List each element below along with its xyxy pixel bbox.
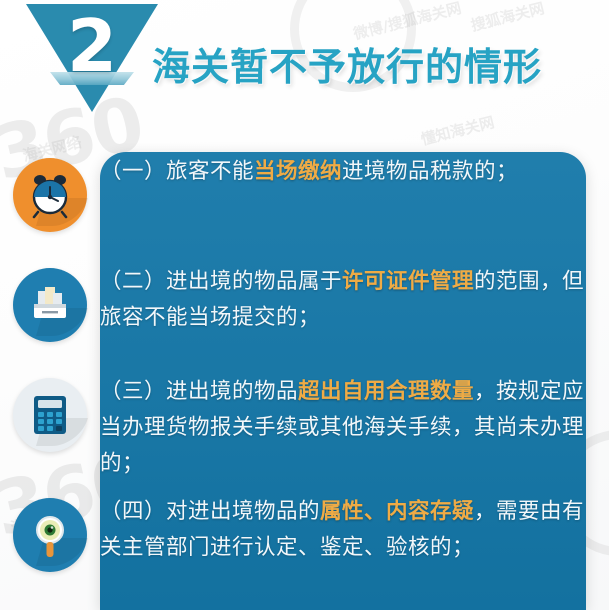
infographic-poster: 360 360 360 微博/搜狐海关网 搜狐海关网 海关网络 懂知海关网 海关… <box>0 0 609 610</box>
item-icon-cell <box>0 262 100 342</box>
item-text-cell: （四）对进出境物品的属性、内容存疑，需要由有关主管部门进行认定、鉴定、验核的； <box>100 492 609 566</box>
alarm-clock-icon <box>13 158 87 232</box>
list-item: （一）旅客不能当场缴纳进境物品税款的； <box>0 152 609 232</box>
plain-phrase: （二）进出境的物品属于 <box>100 269 342 294</box>
eye-magnifier-icon <box>13 498 87 572</box>
plain-phrase: （四）对进出境物品的 <box>100 499 320 524</box>
item-icon-cell <box>0 492 100 572</box>
item-text: （一）旅客不能当场缴纳进境物品税款的； <box>100 154 585 190</box>
section-number-badge: 2 <box>26 4 158 120</box>
badge-number: 2 <box>26 8 158 84</box>
document-tray-icon <box>13 268 87 342</box>
highlighted-phrase: 属性、内容存疑 <box>320 499 474 524</box>
item-text: （四）对进出境物品的属性、内容存疑，需要由有关主管部门进行认定、鉴定、验核的； <box>100 494 585 566</box>
highlighted-phrase: 超出自用合理数量 <box>298 379 474 404</box>
calculator-icon <box>13 378 87 452</box>
highlighted-phrase: 当场缴纳 <box>254 159 342 184</box>
plain-phrase: 进境物品税款的； <box>342 159 518 184</box>
page-title: 海关暂不予放行的情形 <box>152 36 542 91</box>
highlighted-phrase: 许可证件管理 <box>342 269 474 294</box>
eye-magnifier-glyph <box>30 511 70 559</box>
list-item: （四）对进出境物品的属性、内容存疑，需要由有关主管部门进行认定、鉴定、验核的； <box>0 492 609 572</box>
alarm-clock-glyph <box>26 171 74 219</box>
list-item: （二）进出境的物品属于许可证件管理的范围，但旅容不能当场提交的； <box>0 262 609 342</box>
item-icon-cell <box>0 152 100 232</box>
item-text-cell: （二）进出境的物品属于许可证件管理的范围，但旅容不能当场提交的； <box>100 262 609 336</box>
plain-phrase: （三）进出境的物品 <box>100 379 298 404</box>
plain-phrase: （一）旅客不能 <box>100 159 254 184</box>
list-item: （三）进出境的物品超出自用合理数量，按规定应当办理货物报关手续或其他海关手续，其… <box>0 372 609 482</box>
poster-header: 2 海关暂不予放行的情形 <box>0 0 609 128</box>
document-tray-glyph <box>28 283 72 327</box>
item-text-cell: （一）旅客不能当场缴纳进境物品税款的； <box>100 152 609 190</box>
item-text: （三）进出境的物品超出自用合理数量，按规定应当办理货物报关手续或其他海关手续，其… <box>100 374 585 482</box>
calculator-glyph <box>31 393 69 437</box>
items-list: （一）旅客不能当场缴纳进境物品税款的； （二）进出境的物品属 <box>0 152 609 610</box>
item-text-cell: （三）进出境的物品超出自用合理数量，按规定应当办理货物报关手续或其他海关手续，其… <box>100 372 609 482</box>
item-icon-cell <box>0 372 100 452</box>
item-text: （二）进出境的物品属于许可证件管理的范围，但旅容不能当场提交的； <box>100 264 585 336</box>
